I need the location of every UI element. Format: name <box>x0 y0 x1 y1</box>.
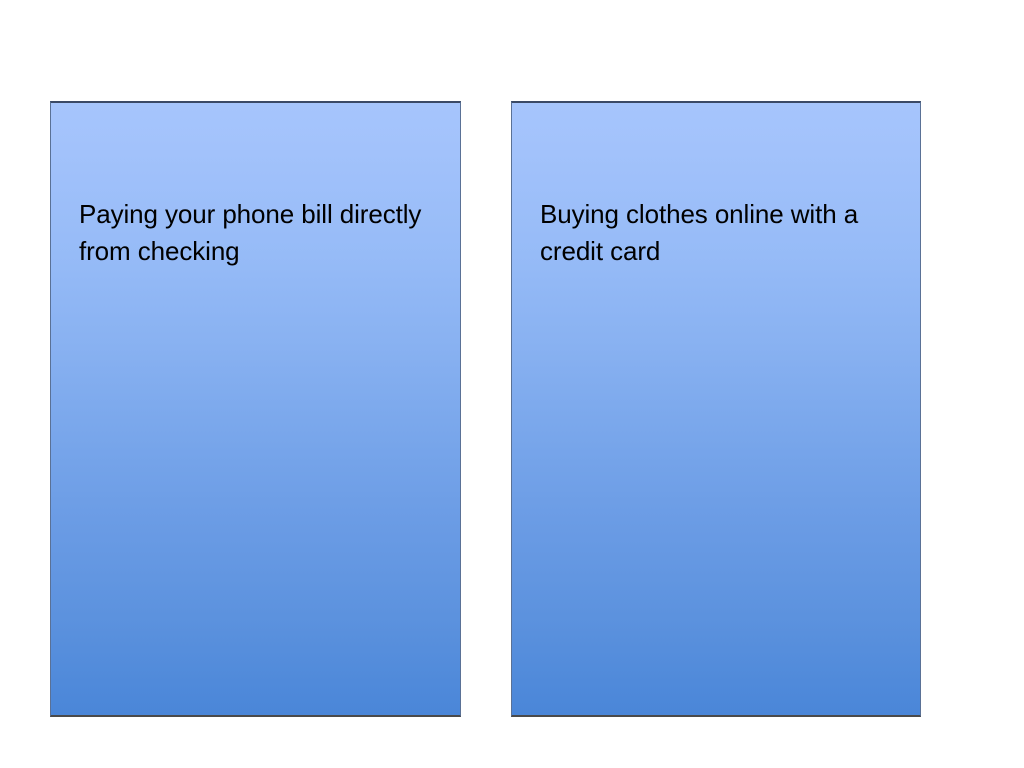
card-text-credit-card: Buying clothes online with a credit card <box>540 196 896 270</box>
content-card-credit-card[interactable]: Buying clothes online with a credit card <box>511 101 921 717</box>
slide-canvas: Paying your phone bill directly from che… <box>0 0 1024 768</box>
card-text-checking: Paying your phone bill directly from che… <box>79 196 431 270</box>
content-card-checking[interactable]: Paying your phone bill directly from che… <box>50 101 461 717</box>
